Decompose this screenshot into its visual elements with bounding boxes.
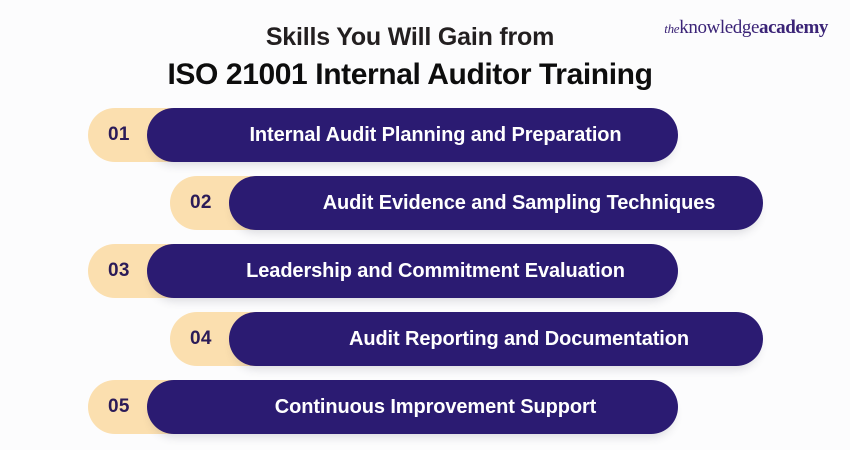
step-number: 03 [88, 260, 130, 282]
skill-pill[interactable]: Continuous Improvement Support [147, 380, 678, 434]
list-item-inner: 05 Continuous Improvement Support [88, 380, 850, 434]
skill-pill[interactable]: Leadership and Commitment Evaluation [147, 244, 678, 298]
skill-pill[interactable]: Audit Reporting and Documentation [229, 312, 763, 366]
skill-label: Audit Evidence and Sampling Techniques [261, 192, 732, 215]
page-title: Skills You Will Gain from ISO 21001 Inte… [0, 22, 850, 93]
page-title-line: ISO 21001 Internal Auditor Training [0, 56, 850, 94]
step-number: 04 [170, 328, 212, 350]
skill-label: Leadership and Commitment Evaluation [184, 260, 641, 283]
list-item[interactable]: 05 Continuous Improvement Support [0, 380, 850, 434]
list-item-inner: 04 Audit Reporting and Documentation [170, 312, 850, 366]
skill-label: Audit Reporting and Documentation [287, 328, 705, 351]
list-item[interactable]: 01 Internal Audit Planning and Preparati… [0, 108, 850, 162]
list-item-inner: 01 Internal Audit Planning and Preparati… [88, 108, 850, 162]
step-number: 01 [88, 124, 130, 146]
skill-pill[interactable]: Audit Evidence and Sampling Techniques [229, 176, 763, 230]
step-number: 05 [88, 396, 130, 418]
skill-pill[interactable]: Internal Audit Planning and Preparation [147, 108, 678, 162]
list-item-inner: 02 Audit Evidence and Sampling Technique… [170, 176, 850, 230]
step-number: 02 [170, 192, 212, 214]
skills-list: 01 Internal Audit Planning and Preparati… [0, 108, 850, 448]
list-item[interactable]: 02 Audit Evidence and Sampling Technique… [0, 176, 850, 230]
list-item-inner: 03 Leadership and Commitment Evaluation [88, 244, 850, 298]
skill-label: Continuous Improvement Support [213, 396, 612, 419]
list-item[interactable]: 04 Audit Reporting and Documentation [0, 312, 850, 366]
skill-label: Internal Audit Planning and Preparation [187, 124, 637, 147]
list-item[interactable]: 03 Leadership and Commitment Evaluation [0, 244, 850, 298]
page-subtitle-line: Skills You Will Gain from [0, 22, 850, 53]
